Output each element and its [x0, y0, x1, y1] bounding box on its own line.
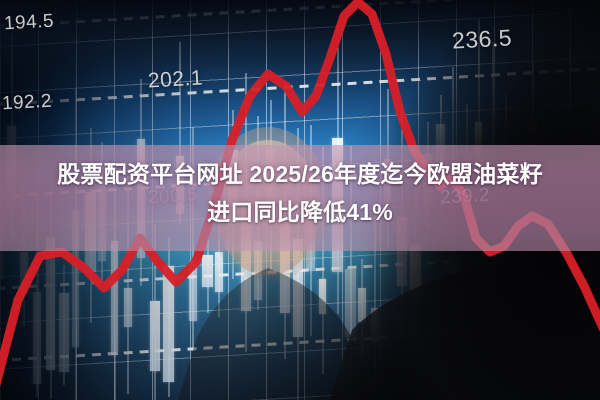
news-thumbnail-image: 194.5192.2202.1236.5200.5239.2 股票配资平台网址 … [0, 0, 600, 400]
caption-text: 股票配资平台网址 2025/26年度迄今欧盟油菜籽 进口同比降低41% [0, 155, 600, 231]
chart-value-label: 192.2 [1, 91, 52, 116]
caption-line-2: 进口同比降低41% [0, 193, 600, 231]
chart-value-label: 194.5 [3, 11, 54, 36]
chart-value-label: 202.1 [147, 66, 203, 93]
caption-line-1: 股票配资平台网址 2025/26年度迄今欧盟油菜籽 [0, 155, 600, 193]
chart-value-label: 236.5 [451, 24, 512, 54]
